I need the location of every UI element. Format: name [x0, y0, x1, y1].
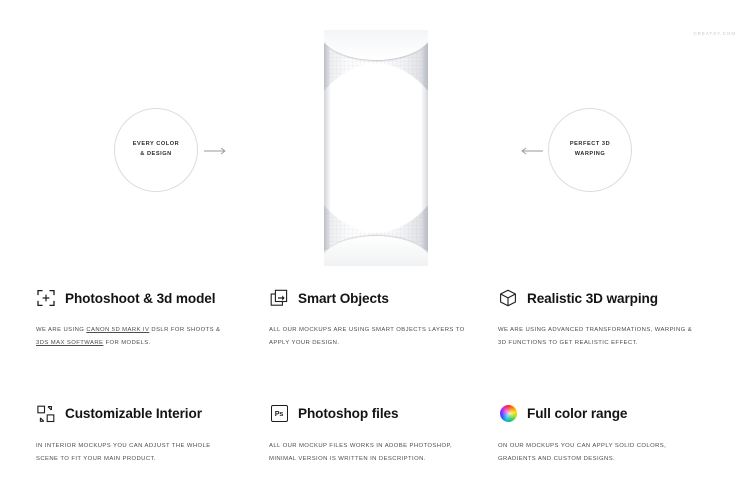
feature-header: Full color range: [498, 401, 744, 427]
desc-segment: DSLR FOR SHOOTS &: [149, 327, 220, 333]
feature-description: WE ARE USING CANON 5D MARK IV DSLR FOR S…: [36, 324, 234, 351]
arrow-right-icon: [204, 146, 228, 156]
desc-segment: WE ARE USING: [36, 327, 86, 333]
ps-icon-label: Ps: [271, 405, 288, 422]
feature-description: ON OUR MOCKUPS YOU CAN APPLY SOLID COLOR…: [498, 440, 696, 467]
mockup-edge-left: [324, 44, 331, 250]
feature-description: ALL OUR MOCKUPS ARE USING SMART OBJECTS …: [269, 324, 467, 351]
feature-header: Realistic 3D warping: [498, 285, 744, 311]
swap-squares-icon: [36, 404, 56, 424]
feature-title: Photoshoot & 3d model: [65, 291, 215, 306]
cube-3d-icon: [498, 288, 518, 308]
badge-perfect-3d-warping: PERFECT 3D WARPING: [548, 108, 632, 192]
feature-photoshop-files: Ps Photoshop files ALL OUR MOCKUP FILES …: [269, 401, 498, 467]
feature-title: Photoshop files: [298, 406, 398, 421]
feature-header: Ps Photoshop files: [269, 401, 498, 427]
feature-smart-objects: Smart Objects ALL OUR MOCKUPS ARE USING …: [269, 285, 498, 351]
badge-right-label: PERFECT 3D WARPING: [570, 140, 610, 160]
feature-photoshoot-3d-model: Photoshoot & 3d model WE ARE USING CANON…: [36, 285, 269, 351]
feature-realistic-3d-warping: Realistic 3D warping WE ARE USING ADVANC…: [498, 285, 744, 351]
pillow-box-mockup: [324, 30, 428, 266]
promo-page: CREATSY.COM EVERY COLOR & DESIGN: [0, 0, 750, 499]
smart-object-icon: [269, 288, 289, 308]
arrow-left-icon: [519, 146, 543, 156]
feature-title: Customizable Interior: [65, 406, 202, 421]
badge-every-color-design: EVERY COLOR & DESIGN: [114, 108, 198, 192]
feature-customizable-interior: Customizable Interior IN INTERIOR MOCKUP…: [36, 401, 269, 467]
color-wheel-icon: [498, 404, 518, 424]
feature-header: Smart Objects: [269, 285, 498, 311]
desc-segment-underlined: 3DS MAX SOFTWARE: [36, 340, 103, 346]
feature-description: IN INTERIOR MOCKUPS YOU CAN ADJUST THE W…: [36, 440, 234, 467]
photoshop-ps-icon: Ps: [269, 404, 289, 424]
feature-header: Customizable Interior: [36, 401, 269, 427]
focus-brackets-icon: [36, 288, 56, 308]
feature-title: Full color range: [527, 406, 627, 421]
mockup-edge-right: [421, 44, 428, 250]
desc-segment: FOR MODELS.: [103, 340, 150, 346]
mockup-bottom-crease: [324, 228, 428, 266]
feature-header: Photoshoot & 3d model: [36, 285, 269, 311]
feature-title: Smart Objects: [298, 291, 389, 306]
features-grid: Photoshoot & 3d model WE ARE USING CANON…: [0, 285, 750, 466]
feature-title: Realistic 3D warping: [527, 291, 658, 306]
feature-description: ALL OUR MOCKUP FILES WORKS IN ADOBE PHOT…: [269, 440, 467, 467]
feature-full-color-range: Full color range ON OUR MOCKUPS YOU CAN …: [498, 401, 744, 467]
mockup-top-crease: [324, 30, 428, 66]
color-wheel-shape: [500, 405, 517, 422]
hero-section: EVERY COLOR & DESIGN PERFECT 3D WARPING: [0, 0, 750, 280]
desc-segment-underlined: CANON 5D MARK IV: [86, 327, 149, 333]
feature-description: WE ARE USING ADVANCED TRANSFORMATIONS, W…: [498, 324, 696, 351]
badge-left-label: EVERY COLOR & DESIGN: [133, 140, 179, 160]
